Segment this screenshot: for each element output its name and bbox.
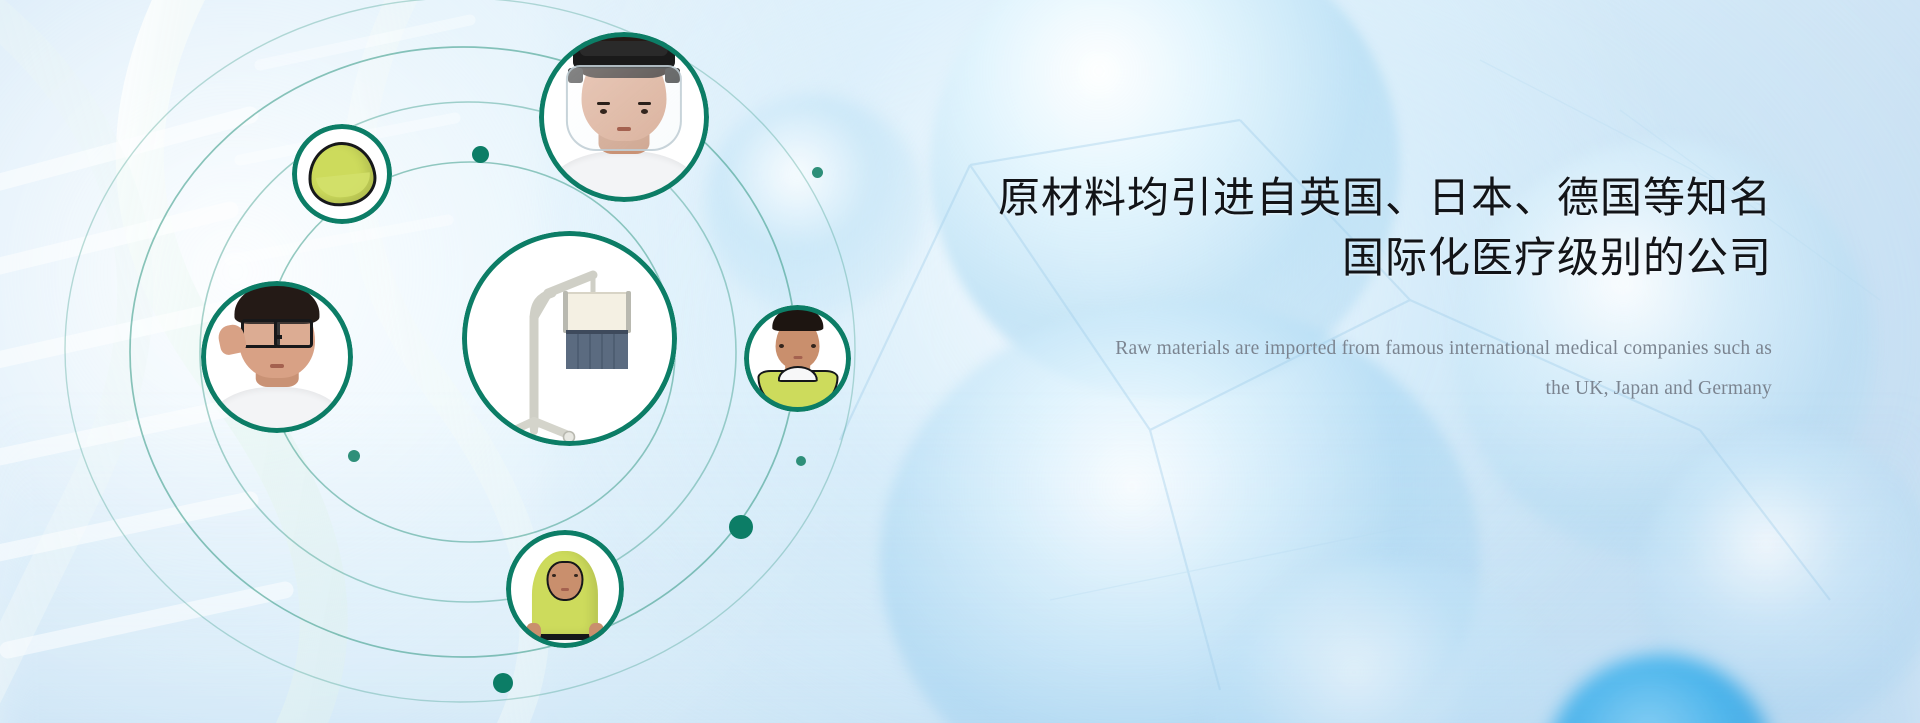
subtext-line-1: Raw materials are imported from famous i… — [962, 329, 1772, 369]
hero-banner: 原材料均引进自英国、日本、德国等知名 国际化医疗级别的公司 Raw materi… — [0, 0, 1920, 723]
orbit-node-thyroid-collar[interactable] — [744, 305, 851, 412]
orbit-node-lead-glasses[interactable] — [201, 281, 353, 433]
orbit-node-lead-protective-cap[interactable] — [292, 124, 392, 224]
hero-copy: 原材料均引进自英国、日本、德国等知名 国际化医疗级别的公司 Raw materi… — [962, 168, 1772, 409]
lead-glasses-icon — [201, 281, 353, 433]
subtext-line-2: the UK, Japan and Germany — [962, 369, 1772, 409]
orbit-dot-2 — [812, 167, 823, 178]
mobile-lead-barrier-screen-icon — [462, 231, 677, 446]
headline-line-1: 原材料均引进自英国、日本、德国等知名 — [962, 168, 1772, 228]
orbit-node-x-ray-face-shield-mask[interactable] — [539, 32, 709, 202]
lead-protective-cap-icon — [292, 124, 392, 224]
orbit-dot-6 — [493, 673, 513, 693]
orbit-node-lead-hood[interactable] — [506, 530, 624, 648]
x-ray-face-shield-icon — [539, 32, 709, 202]
orbit-dot-4 — [796, 456, 806, 466]
orbit-dot-3 — [348, 450, 360, 462]
thyroid-collar-icon — [744, 305, 851, 412]
headline-line-2: 国际化医疗级别的公司 — [962, 228, 1772, 288]
orbit-dot-1 — [472, 146, 489, 163]
lead-hood-icon — [506, 530, 624, 648]
subtext: Raw materials are imported from famous i… — [962, 329, 1772, 409]
orbit-dot-5 — [729, 515, 753, 539]
orbit-node-mobile-lead-barrier-screen[interactable] — [462, 231, 677, 446]
